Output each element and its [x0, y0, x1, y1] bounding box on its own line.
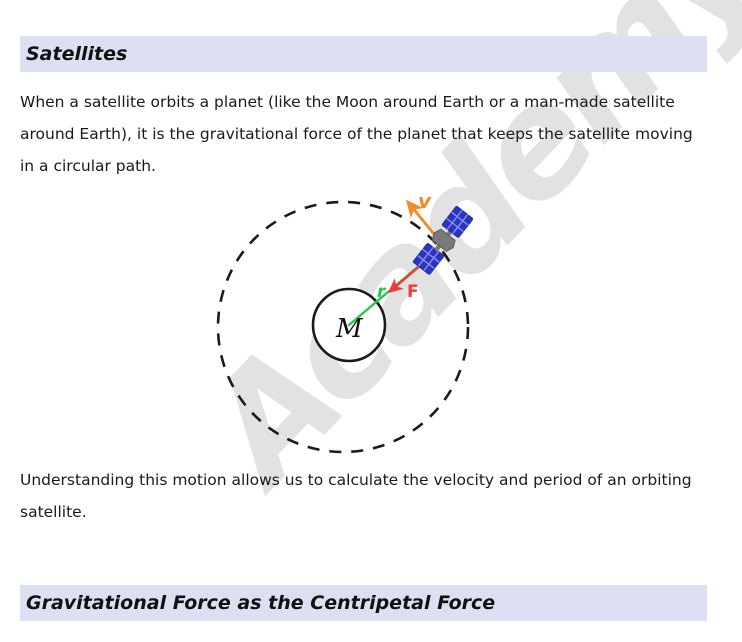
- section-heading-satellites: Satellites: [26, 43, 127, 65]
- section-heading-gravitational-force: Gravitational Force as the Centripetal F…: [26, 592, 495, 614]
- page-root: Academy Satellites When a satellite orbi…: [0, 0, 742, 642]
- paragraph-intro: When a satellite orbits a planet (like t…: [20, 86, 702, 182]
- section-banner-gravitational-force: Gravitational Force as the Centripetal F…: [20, 585, 707, 621]
- velocity-label: v: [418, 189, 432, 213]
- orbit-diagram-svg: M r v F: [190, 185, 510, 470]
- satellite-graphic: [412, 205, 475, 276]
- radius-label: r: [377, 282, 387, 302]
- central-body-label: M: [335, 314, 364, 344]
- paragraph-outro: Understanding this motion allows us to c…: [20, 464, 702, 528]
- section-banner-satellites: Satellites: [20, 36, 707, 72]
- force-label: F: [407, 282, 419, 302]
- satellite-orbit-diagram: M r v F: [190, 185, 510, 470]
